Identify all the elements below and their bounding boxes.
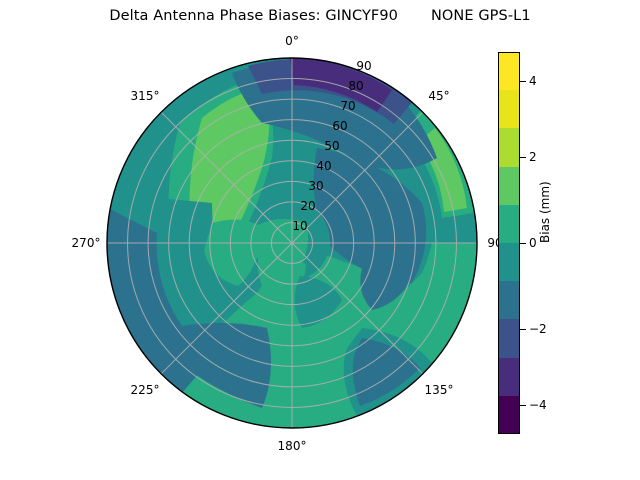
r-label-20: 20 (300, 199, 315, 213)
polar-contour-axes: 0° 45° 90 135° 180° 225° 270° 315° 10 20… (62, 28, 522, 458)
colorbar-tick-4 (520, 81, 526, 82)
r-label-60: 60 (332, 119, 347, 133)
r-label-90: 90 (356, 59, 371, 73)
colorbar-band-3 (498, 281, 520, 319)
colorbar-ticklabel-4: 4 (529, 74, 537, 88)
page-title: Delta Antenna Phase Biases: GINCYF90 NON… (0, 8, 640, 24)
r-label-10: 10 (292, 219, 307, 233)
colorbar-axis-label: Bias (mm) (538, 181, 552, 243)
colorbar-band-9 (498, 52, 520, 90)
theta-label-45: 45° (428, 89, 449, 103)
colorbar-tick-neg4 (520, 405, 526, 406)
r-label-30: 30 (308, 179, 323, 193)
colorbar-band-8 (498, 90, 520, 128)
colorbar-band-1 (498, 358, 520, 396)
r-label-80: 80 (348, 79, 363, 93)
colorbar-band-6 (498, 167, 520, 205)
r-label-40: 40 (316, 159, 331, 173)
theta-label-0: 0° (285, 34, 299, 48)
colorbar-band-4 (498, 243, 520, 281)
colorbar-ticklabel-neg4: −4 (529, 398, 547, 412)
colorbar[interactable] (498, 52, 520, 434)
colorbar-band-0 (498, 396, 520, 434)
colorbar-ticklabel-2: 2 (529, 150, 537, 164)
colorbar-band-5 (498, 205, 520, 243)
figure-canvas: Delta Antenna Phase Biases: GINCYF90 NON… (0, 0, 640, 480)
theta-label-270: 270° (72, 236, 101, 250)
theta-label-315: 315° (131, 89, 160, 103)
colorbar-band-2 (498, 319, 520, 357)
polar-grid (107, 58, 477, 428)
colorbar-tick-2 (520, 157, 526, 158)
colorbar-band-7 (498, 128, 520, 166)
theta-label-180: 180° (278, 439, 307, 453)
theta-label-135: 135° (425, 383, 454, 397)
theta-label-225: 225° (131, 383, 160, 397)
colorbar-ticklabel-0: 0 (529, 236, 537, 250)
colorbar-tick-neg2 (520, 329, 526, 330)
colorbar-ticklabel-neg2: −2 (529, 322, 547, 336)
r-label-50: 50 (324, 139, 339, 153)
colorbar-tick-0 (520, 243, 526, 244)
r-label-70: 70 (340, 99, 355, 113)
